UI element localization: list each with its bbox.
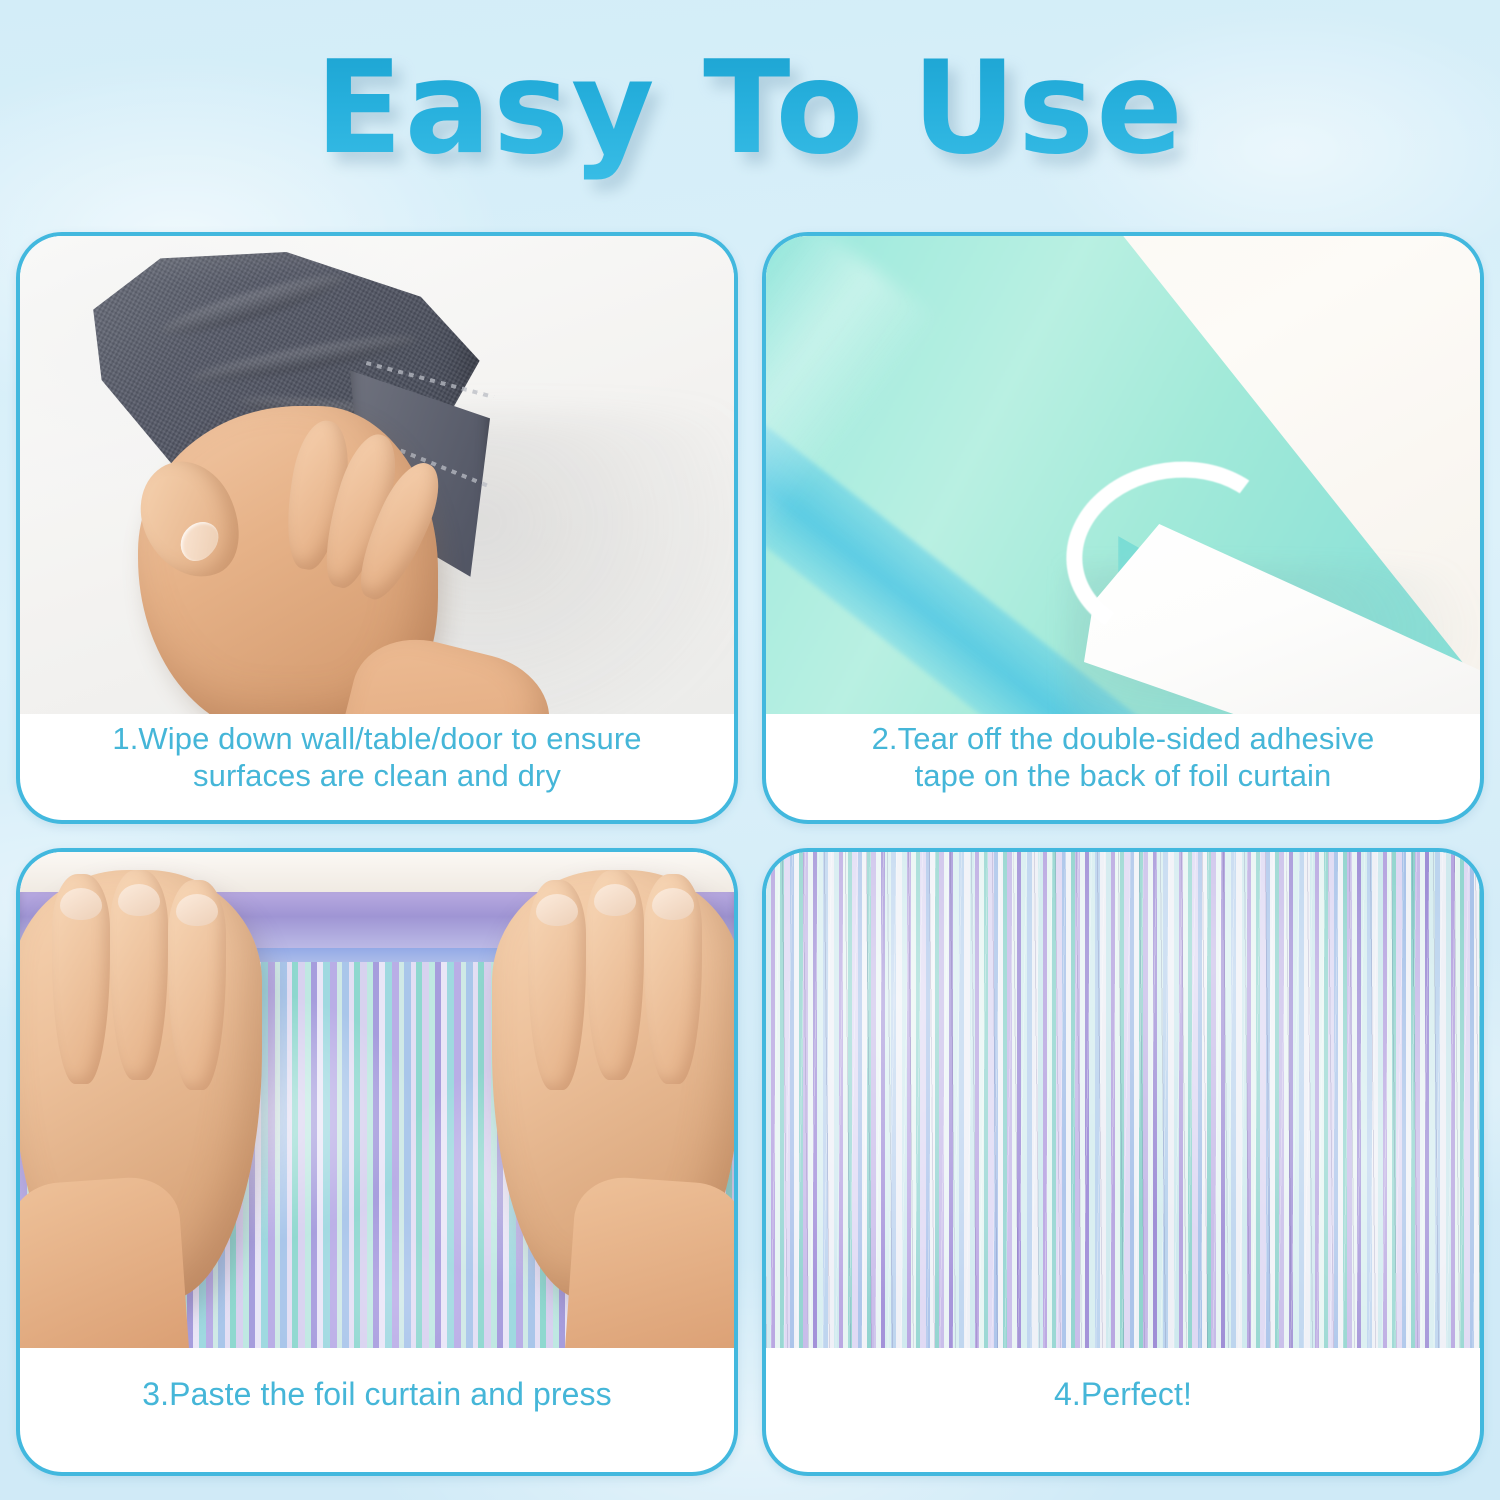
iridescent-fringe-backdrop	[766, 852, 1480, 1348]
forearm	[563, 1174, 734, 1348]
fingernail	[60, 888, 102, 920]
cloth-fold	[158, 266, 348, 343]
page-title: Easy To Use	[315, 34, 1185, 184]
step-4-photo	[766, 852, 1480, 1348]
cloth-fold	[188, 328, 418, 390]
finger	[168, 880, 226, 1090]
forearm	[20, 1174, 191, 1348]
step-1-caption: 1.Wipe down wall/table/door to ensure su…	[20, 714, 734, 794]
step-card-4: 4.Perfect!	[762, 848, 1484, 1476]
fingernail	[594, 884, 636, 916]
finger	[644, 874, 702, 1084]
fingernail	[118, 884, 160, 916]
step-3-caption: 3.Paste the foil curtain and press	[20, 1348, 734, 1413]
step-card-3: 3.Paste the foil curtain and press	[16, 848, 738, 1476]
steps-grid: 1.Wipe down wall/table/door to ensure su…	[16, 232, 1484, 1476]
step-1-photo	[20, 236, 734, 714]
right-hand	[492, 870, 734, 1300]
pressing-curtain-scene	[20, 852, 734, 1348]
fingernail	[176, 894, 218, 926]
thumbnail	[173, 514, 226, 568]
finger	[586, 870, 644, 1080]
step-2-photo	[766, 236, 1480, 714]
step-card-2: 2.Tear off the double-sided adhesive tap…	[762, 232, 1484, 824]
left-hand	[20, 870, 262, 1300]
fingernail	[536, 894, 578, 926]
page-title-area: Easy To Use	[0, 34, 1500, 214]
hand	[138, 406, 438, 714]
step-card-1: 1.Wipe down wall/table/door to ensure su…	[16, 232, 738, 824]
fingernail	[652, 888, 694, 920]
step-2-caption: 2.Tear off the double-sided adhesive tap…	[766, 714, 1480, 794]
finger	[110, 870, 168, 1080]
step-3-photo	[20, 852, 734, 1348]
finger	[528, 880, 586, 1090]
step-4-caption: 4.Perfect!	[766, 1348, 1480, 1413]
backdrop-crinkle-texture	[766, 852, 1480, 1348]
finger	[52, 874, 110, 1084]
promo-page: Easy To Use	[0, 0, 1500, 1500]
